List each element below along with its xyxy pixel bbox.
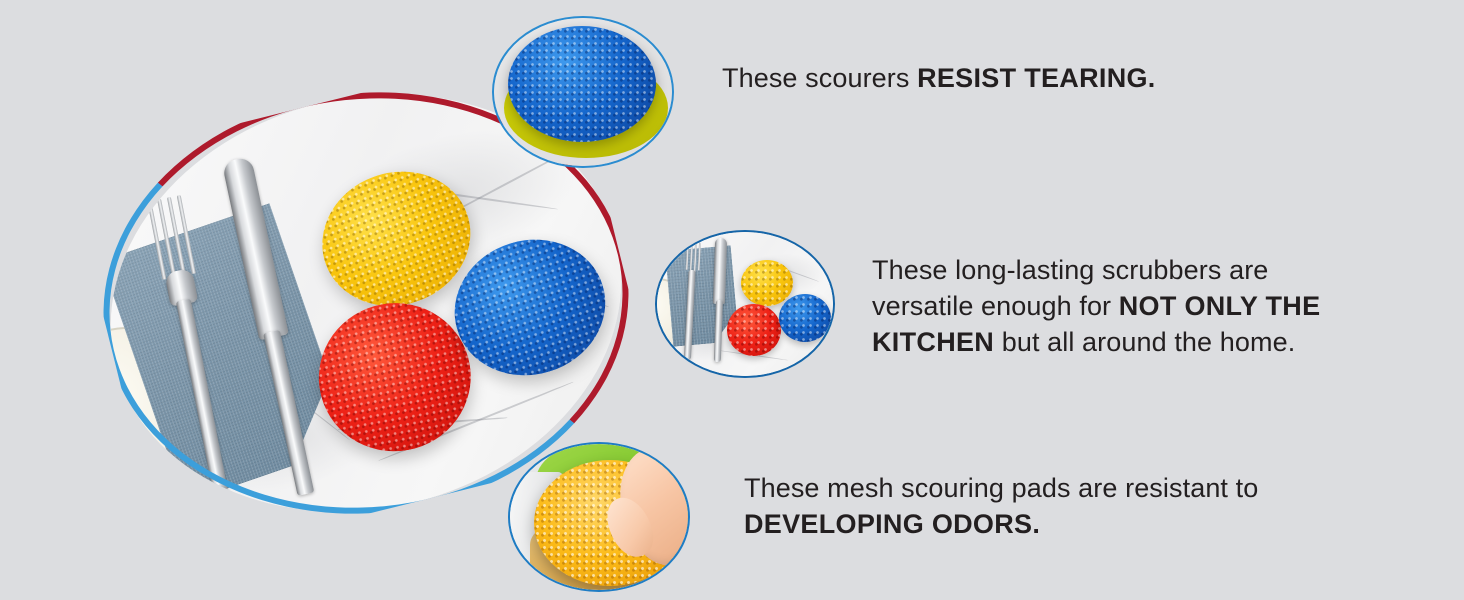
caption-lead-text: These scourers: [722, 63, 917, 93]
feature-caption-not-only-kitchen: These long-lasting scrubbers are versati…: [872, 252, 1334, 360]
feature-caption-developing-odors: These mesh scouring pads are resistant t…: [744, 470, 1304, 542]
fork-handle: [684, 270, 696, 360]
fork-tine: [694, 242, 698, 272]
caption-emphasis-text: RESIST TEARING.: [917, 63, 1156, 93]
caption-emphasis-text: DEVELOPING ODORS.: [744, 509, 1040, 539]
blue-scourer-closeup-clip: [494, 18, 672, 166]
caption-lead-text: These mesh scouring pads are resistant t…: [744, 473, 1258, 503]
product-feature-banner: These scourers RESIST TEARING. These lon…: [0, 0, 1464, 600]
fork-tine: [686, 242, 689, 270]
scourer-set-thumbnail-oval: [655, 230, 835, 378]
feature-caption-resist-tearing: These scourers RESIST TEARING.: [722, 60, 1192, 96]
knife-handle: [714, 300, 723, 362]
hand-holding-scourer-clip: [510, 444, 688, 590]
blue-scourer-closeup-oval: [492, 16, 674, 168]
hand-holding-scourer-oval: [508, 442, 690, 592]
fork-tine: [690, 242, 694, 272]
scourer-pad-blue: [779, 294, 831, 342]
knife-blade: [713, 238, 727, 304]
scourer-pad-yellow: [741, 260, 793, 306]
scourer-pad-red: [727, 304, 781, 356]
scourer-set-thumbnail-clip: [657, 232, 833, 376]
scourer-pad-blue-closeup: [508, 26, 656, 142]
fork-tine: [698, 242, 701, 270]
caption-tail-text: but all around the home.: [994, 327, 1295, 357]
